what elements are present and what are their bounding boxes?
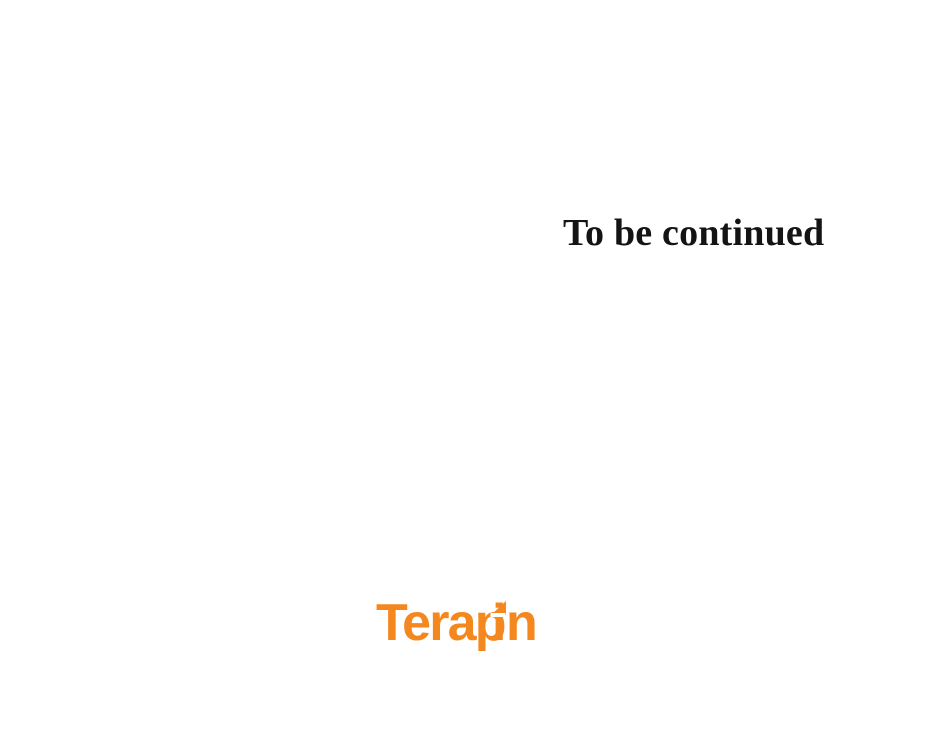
page-title: To be continued (563, 210, 824, 256)
accent-mask (491, 613, 506, 617)
terapin-logo: Terap i n (376, 596, 566, 656)
terapin-logo-svg: Terap i n (376, 596, 566, 656)
slide-canvas: To be continued Terap i n (0, 0, 940, 756)
terapin-wordmark-prefix: Terap (376, 596, 505, 652)
terapin-wordmark-suffix: n (506, 596, 536, 652)
